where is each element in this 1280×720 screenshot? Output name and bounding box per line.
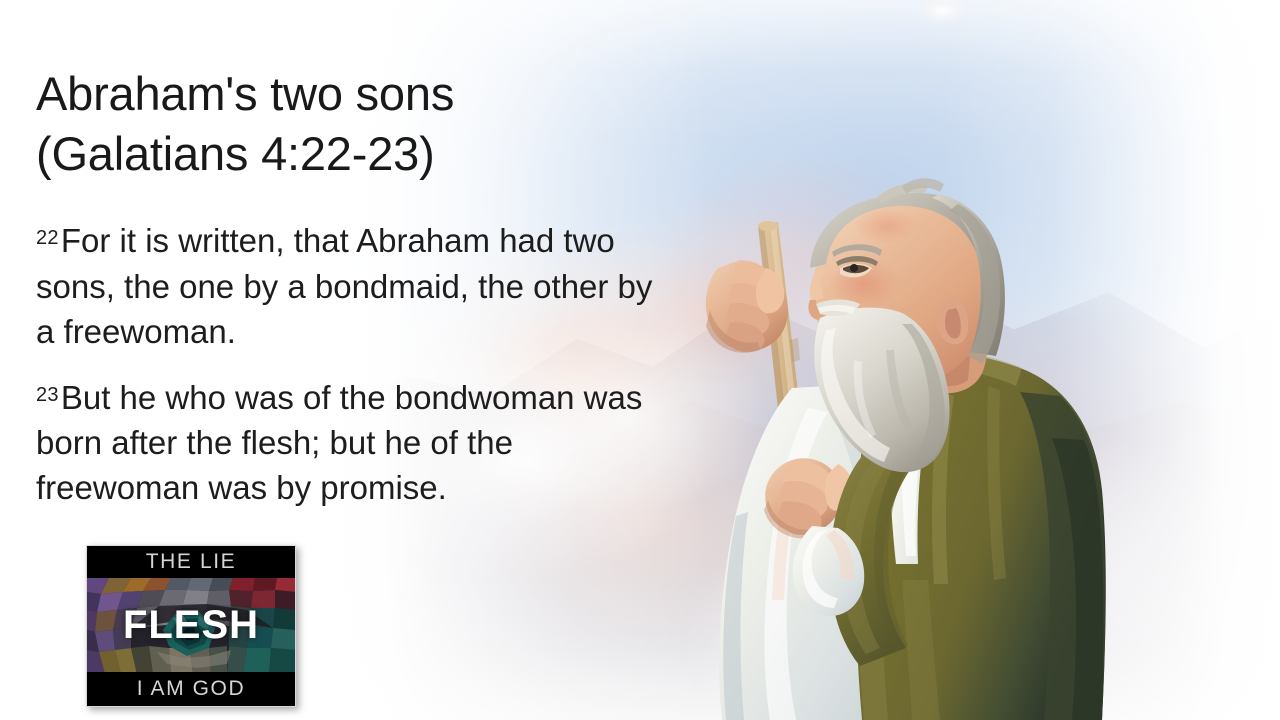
card-center-word: FLESH	[87, 578, 295, 672]
card-top-label: THE LIE	[87, 546, 295, 578]
upper-hand-and-forearm	[706, 260, 788, 353]
low-poly-eye-image: FLESH	[87, 578, 295, 672]
verse-23: 23But he who was of the bondwoman was bo…	[36, 354, 666, 511]
page-title: Abraham's two sons (Galatians 4:22-23)	[36, 0, 666, 184]
card-bottom-label: I AM GOD	[87, 672, 295, 706]
slide-canvas: Abraham's two sons (Galatians 4:22-23) 2…	[0, 0, 1280, 720]
verse-23-text: But he who was of the bondwoman was born…	[36, 379, 642, 506]
verse-23-number: 23	[36, 384, 61, 406]
abraham-figure-illustration	[640, 160, 1160, 720]
slide-text-column: Abraham's two sons (Galatians 4:22-23) 2…	[36, 0, 666, 511]
verse-22-text: For it is written, that Abraham had two …	[36, 222, 652, 349]
verse-22: 22For it is written, that Abraham had tw…	[36, 184, 666, 354]
verse-22-number: 22	[36, 227, 61, 249]
flesh-lie-card: THE LIE	[86, 545, 296, 707]
